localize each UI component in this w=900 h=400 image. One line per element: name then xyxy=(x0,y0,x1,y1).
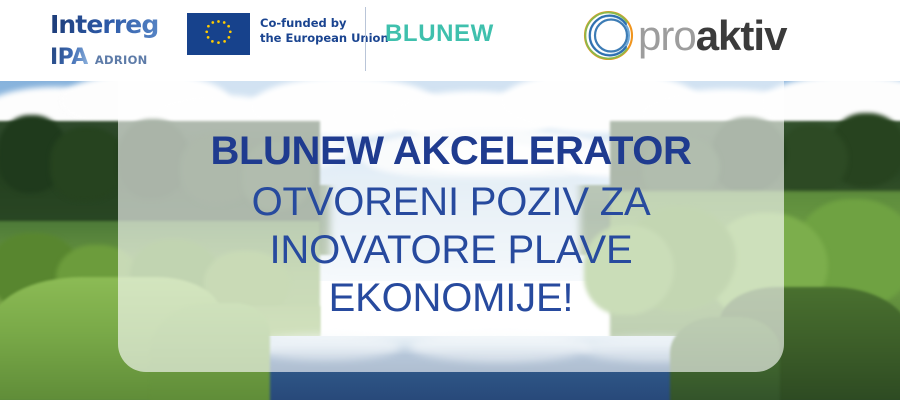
ipa-adrion-row: IPA ADRION xyxy=(50,47,190,69)
proaktiv-circle-icon xyxy=(582,9,635,62)
hero-subtitle-line-2: INOVATORE PLAVE xyxy=(269,226,632,274)
eu-cofunded-text: Co-funded by the European Union xyxy=(260,16,389,46)
interreg-logo: Interreg IPA ADRION xyxy=(50,12,190,74)
logo-bar: Interreg IPA ADRION xyxy=(0,0,900,81)
proaktiv-name-bold: aktiv xyxy=(696,12,787,59)
adrion-wordmark: ADRION xyxy=(95,53,148,67)
eu-stars xyxy=(187,13,250,55)
proaktiv-logo: proaktiv xyxy=(582,9,786,62)
eu-cofunded-line-2: the European Union xyxy=(260,31,389,46)
interreg-wordmark: Interreg xyxy=(50,12,190,38)
blunew-wordmark: BLUNEW xyxy=(385,20,494,48)
hero-subtitle-line-3: EKONOMIJE! xyxy=(329,274,574,322)
eu-cofunded-line-1: Co-funded by xyxy=(260,16,389,31)
logo-divider xyxy=(365,7,366,71)
hero-subtitle-line-1: OTVORENI POZIV ZA xyxy=(252,178,651,226)
ipa-wordmark: IPA xyxy=(50,47,88,69)
eu-flag-icon xyxy=(187,13,250,55)
proaktiv-name-light: pro xyxy=(638,12,696,59)
promo-banner: BLUNEW AKCELERATOR OTVORENI POZIV ZA INO… xyxy=(0,0,900,400)
hero-title: BLUNEW AKCELERATOR xyxy=(211,129,692,173)
proaktiv-wordmark: proaktiv xyxy=(638,15,786,57)
